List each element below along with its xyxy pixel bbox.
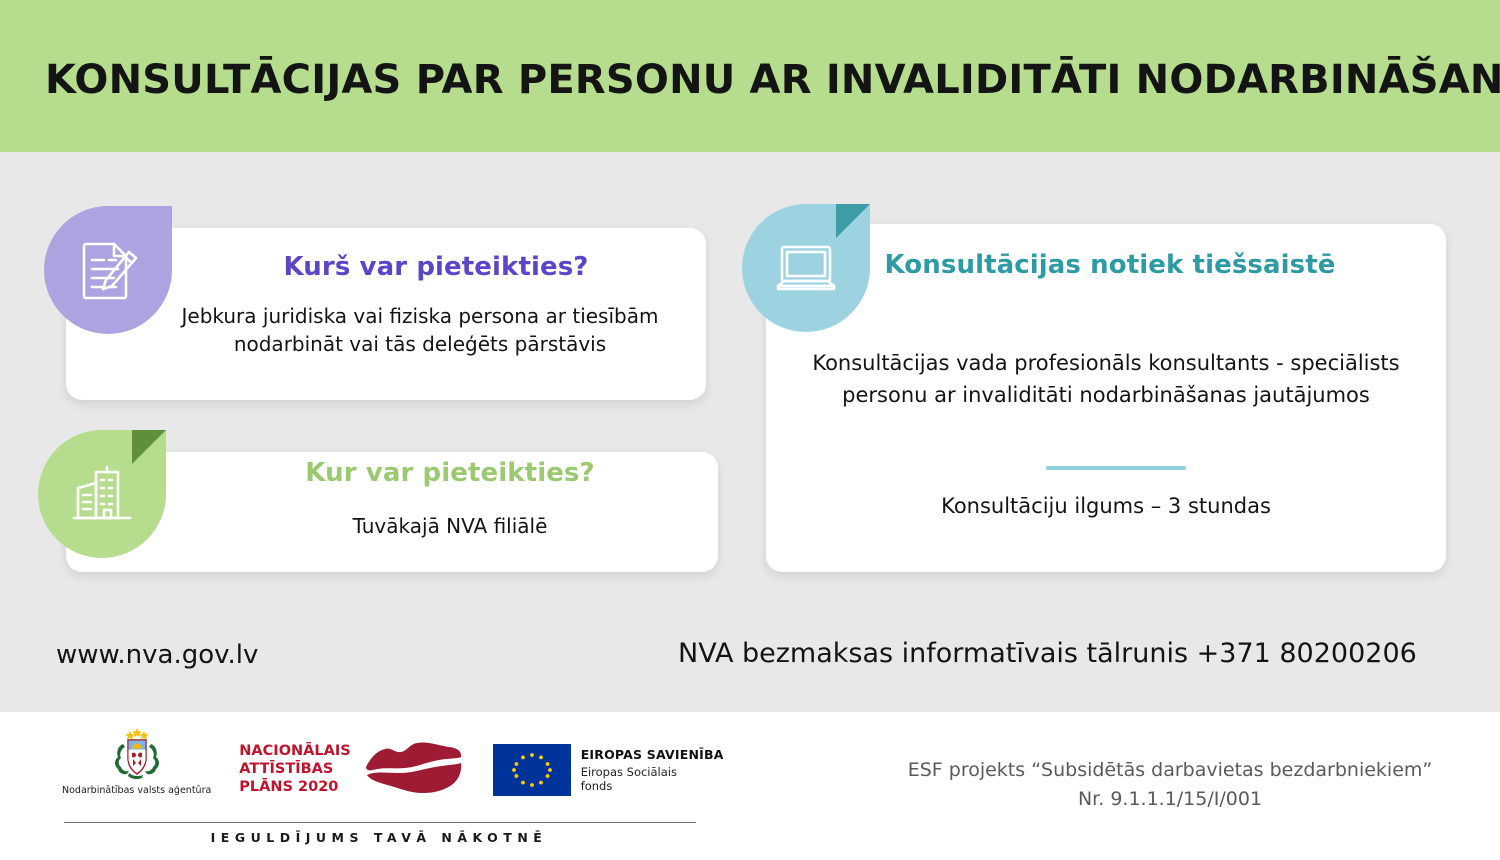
nva-logo: Nodarbinātības valsts aģentūra [62, 726, 211, 814]
card-where-heading: Kur var pieteikties? [200, 458, 700, 488]
nva-logo-caption: Nodarbinātības valsts aģentūra [62, 785, 211, 796]
logo-row: Nodarbinātības valsts aģentūra NACIONĀLA… [62, 726, 696, 814]
card-online-heading: Konsultācijas notiek tiešsaistē [790, 250, 1430, 280]
card-who-body: Jebkura juridiska vai fiziska persona ar… [150, 302, 690, 359]
laptop-icon [742, 204, 870, 332]
latvia-map-icon [361, 737, 465, 803]
buildings-icon [38, 430, 166, 558]
page-title: KONSULTĀCIJAS PAR PERSONU AR INVALIDITĀT… [45, 58, 1455, 102]
national-plan-logo: NACIONĀLAIS ATTĪSTĪBAS PLĀNS 2020 [239, 726, 464, 814]
phone-info: NVA bezmaksas informatīvais tālrunis +37… [678, 638, 1417, 669]
infographic-canvas: KONSULTĀCIJAS PAR PERSONU AR INVALIDITĀT… [0, 0, 1500, 860]
project-number: Nr. 9.1.1.1/15/I/001 [880, 785, 1460, 814]
footer-slogan: IEGULDĪJUMS TAVĀ NĀKOTNĒ [62, 830, 696, 845]
card-who-heading: Kurš var pieteikties? [196, 252, 676, 282]
eu-flag-icon [493, 744, 571, 796]
footer-logo-strip: Nodarbinātības valsts aģentūra NACIONĀLA… [62, 726, 696, 846]
card-where-body: Tuvākajā NVA filiālē [200, 512, 700, 540]
document-pencil-icon [44, 206, 172, 334]
project-name: ESF projekts “Subsidētās darbavietas bez… [880, 756, 1460, 785]
card-online-duration: Konsultāciju ilgums – 3 stundas [806, 492, 1406, 522]
card-online-body: Konsultācijas vada profesionāls konsulta… [806, 348, 1406, 412]
project-info: ESF projekts “Subsidētās darbavietas bez… [880, 756, 1460, 813]
eu-logo: EIROPAS SAVIENĪBA Eiropas Sociālais fond… [493, 726, 724, 814]
national-plan-line-3: PLĀNS 2020 [239, 779, 350, 797]
national-plan-line-1: NACIONĀLAIS [239, 743, 350, 761]
website-link[interactable]: www.nva.gov.lv [56, 640, 258, 670]
latvia-coat-of-arms-icon [110, 726, 164, 782]
card-online-divider [1046, 466, 1186, 470]
footer-rule [64, 822, 696, 823]
eu-subtitle-line-2: fonds [581, 779, 724, 793]
eu-subtitle-line-1: Eiropas Sociālais [581, 765, 724, 779]
eu-title: EIROPAS SAVIENĪBA [581, 747, 724, 762]
national-plan-line-2: ATTĪSTĪBAS [239, 761, 350, 779]
